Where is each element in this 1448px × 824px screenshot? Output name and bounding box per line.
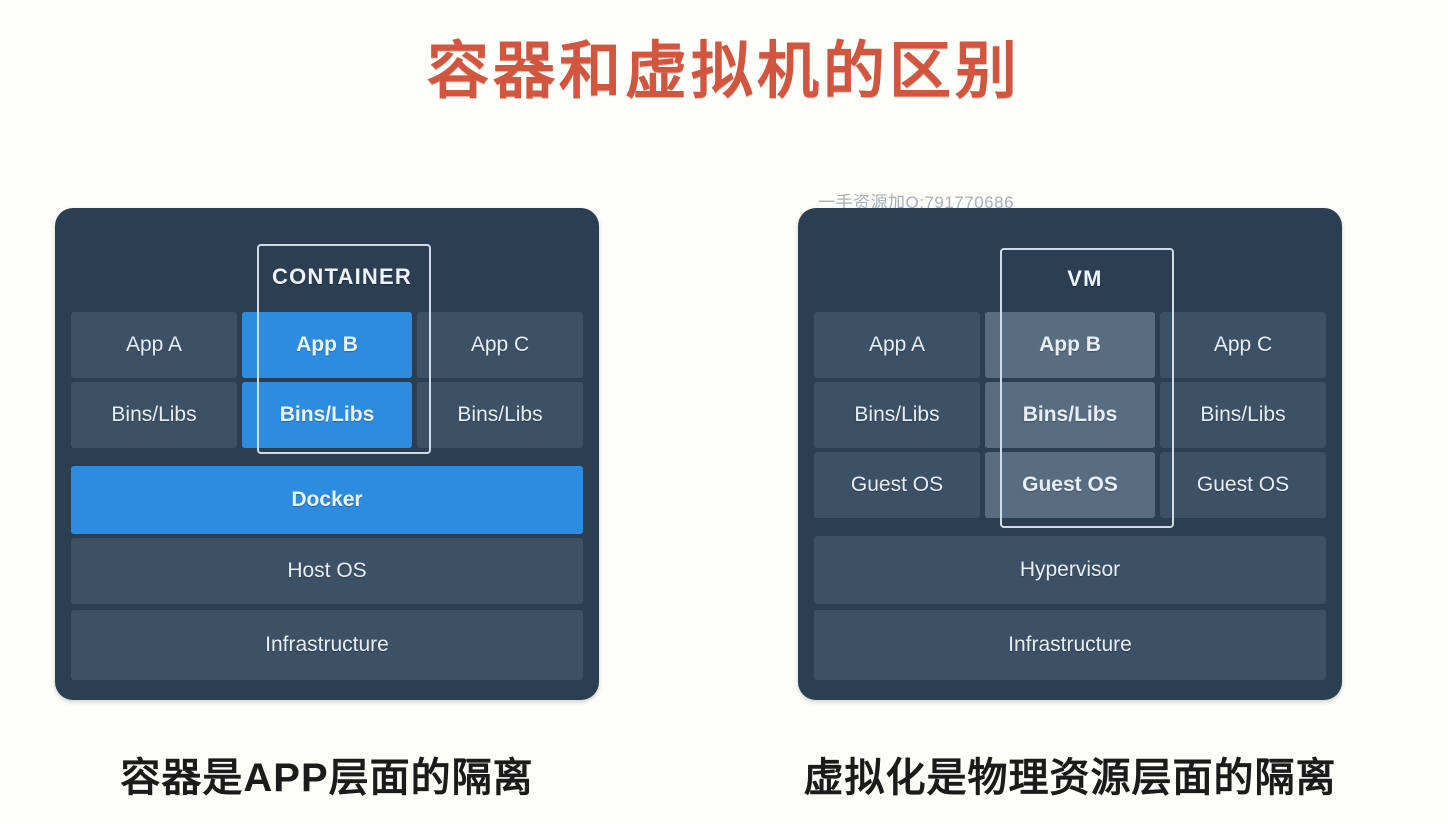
vm-stack: VM App A App B App C Bins/Libs Bins/Libs…: [814, 208, 1326, 700]
vm-highlight-label: VM: [1000, 248, 1170, 310]
vm-app-a-cell: App A: [814, 312, 980, 378]
vm-bins-a-cell: Bins/Libs: [814, 382, 980, 448]
container-bins-c-cell: Bins/Libs: [417, 382, 583, 448]
container-architecture-panel: CONTAINER App A App B App C Bins/Libs Bi…: [55, 208, 599, 700]
container-infrastructure-layer: Infrastructure: [71, 610, 583, 680]
container-app-a-cell: App A: [71, 312, 237, 378]
container-caption: 容器是APP层面的隔离: [55, 745, 599, 803]
vm-architecture-panel: VM App A App B App C Bins/Libs Bins/Libs…: [798, 208, 1342, 700]
container-stack: CONTAINER App A App B App C Bins/Libs Bi…: [71, 208, 583, 700]
container-bins-b-cell: Bins/Libs: [242, 382, 412, 448]
vm-guest-os-a-cell: Guest OS: [814, 452, 980, 518]
container-bins-a-cell: Bins/Libs: [71, 382, 237, 448]
vm-hypervisor-layer: Hypervisor: [814, 536, 1326, 604]
vm-app-c-cell: App C: [1160, 312, 1326, 378]
vm-guest-os-b-cell: Guest OS: [985, 452, 1155, 518]
container-docker-layer: Docker: [71, 466, 583, 534]
vm-caption: 虚拟化是物理资源层面的隔离: [798, 745, 1342, 803]
vm-bins-b-cell: Bins/Libs: [985, 382, 1155, 448]
page-title: 容器和虚拟机的区别: [0, 36, 1448, 107]
container-host-os-layer: Host OS: [71, 538, 583, 604]
vm-app-b-cell: App B: [985, 312, 1155, 378]
container-highlight-label: CONTAINER: [257, 244, 427, 310]
vm-bins-c-cell: Bins/Libs: [1160, 382, 1326, 448]
vm-guest-os-c-cell: Guest OS: [1160, 452, 1326, 518]
vm-infrastructure-layer: Infrastructure: [814, 610, 1326, 680]
container-app-c-cell: App C: [417, 312, 583, 378]
container-app-b-cell: App B: [242, 312, 412, 378]
